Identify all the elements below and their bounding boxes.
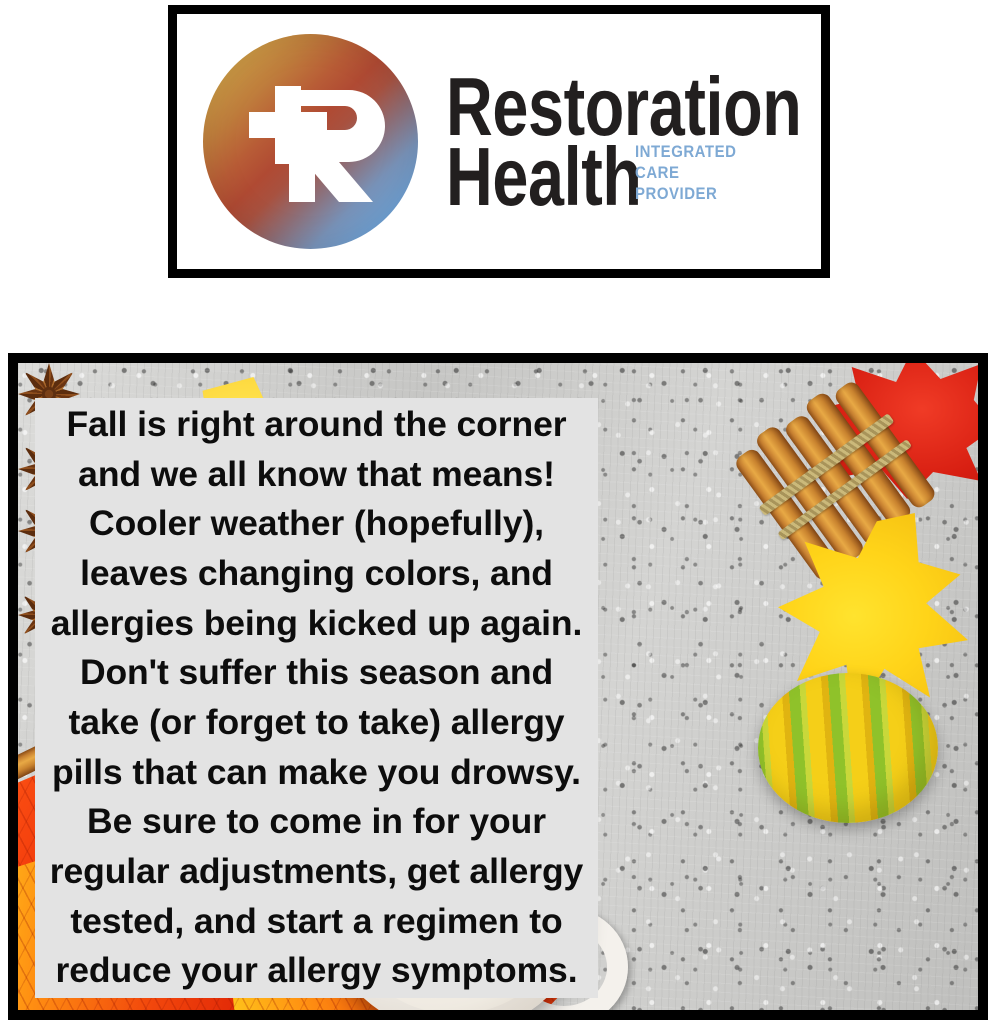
tagline-line-3: PROVIDER xyxy=(635,183,736,204)
tagline-line-2: CARE xyxy=(635,162,736,183)
autumn-photo: Fall is right around the corner and we a… xyxy=(18,363,978,1010)
promo-body-text: Fall is right around the corner and we a… xyxy=(49,400,584,996)
green-striped-gourd-icon xyxy=(758,673,938,823)
tagline-line-1: INTEGRATED xyxy=(635,141,736,162)
restoration-health-logo-icon xyxy=(203,34,418,249)
brand-wordmark: Restoration Health INTEGRATED CARE PROVI… xyxy=(446,72,902,212)
logo-panel-inner: Restoration Health INTEGRATED CARE PROVI… xyxy=(177,14,821,269)
promo-photo-panel: Fall is right around the corner and we a… xyxy=(8,353,988,1020)
brand-name-line-2-row: Health INTEGRATED CARE PROVIDER xyxy=(446,141,902,211)
brand-tagline: INTEGRATED CARE PROVIDER xyxy=(635,141,750,204)
logo-panel: Restoration Health INTEGRATED CARE PROVI… xyxy=(168,5,830,278)
brand-name-line-2: Health xyxy=(446,142,642,212)
cross-r-monogram-icon xyxy=(203,34,418,249)
promo-text-box: Fall is right around the corner and we a… xyxy=(35,398,598,998)
